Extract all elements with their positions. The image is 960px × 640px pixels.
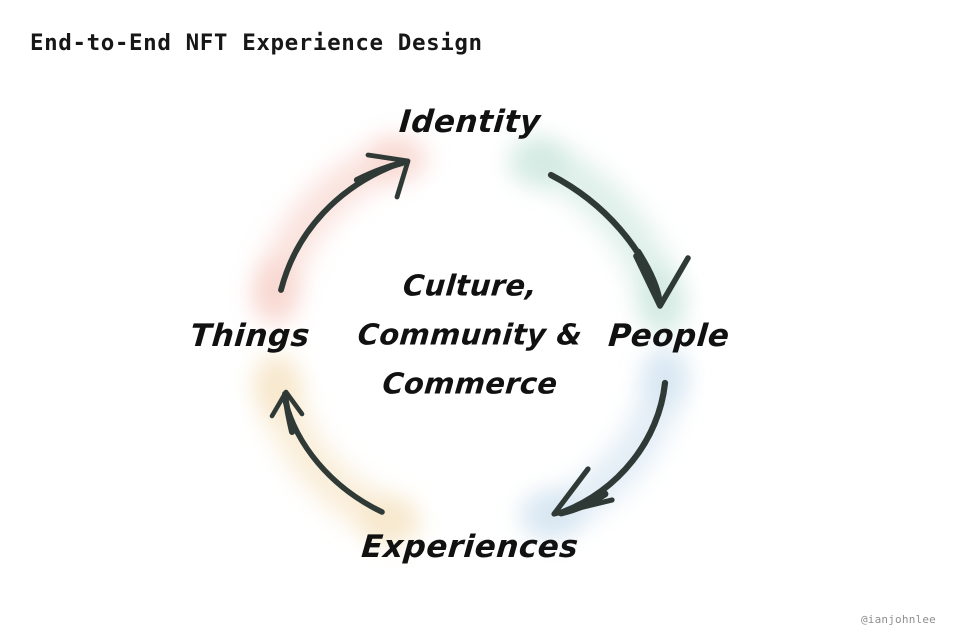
center-caption: Culture, Community & Commerce — [358, 262, 582, 409]
node-label-people: People — [607, 318, 731, 354]
node-label-experiences: Experiences — [360, 529, 580, 565]
center-caption-line-2: Community & — [356, 311, 585, 360]
center-caption-line-1: Culture, — [356, 262, 585, 311]
diagram-canvas: End-to-End NFT Experience Design — [0, 0, 960, 640]
watermark-handle: @ianjohnlee — [861, 613, 936, 626]
center-caption-line-3: Commerce — [356, 360, 585, 409]
node-label-things: Things — [189, 318, 312, 354]
node-label-identity: Identity — [398, 104, 542, 140]
cycle-diagram: Identity People Experiences Things Cultu… — [0, 0, 960, 640]
